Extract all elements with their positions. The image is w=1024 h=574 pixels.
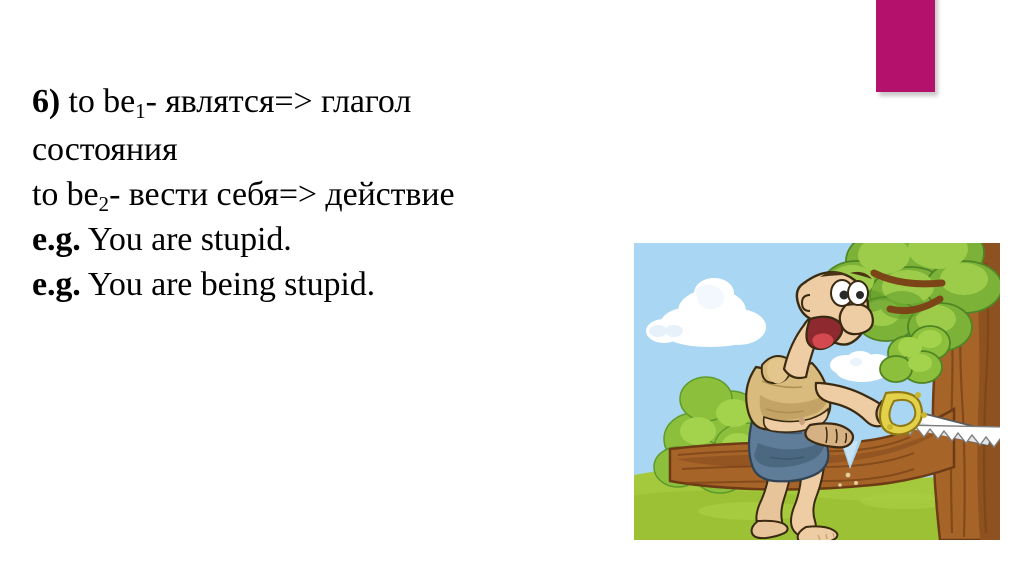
text-line-2: состояния bbox=[32, 128, 692, 173]
man-sawing-own-branch-cartoon bbox=[634, 243, 1000, 540]
list-marker: 6) bbox=[32, 83, 60, 120]
text-line-4: e.g. You are stupid. bbox=[32, 218, 692, 263]
example-sentence-1: You are stupid. bbox=[88, 221, 292, 258]
eg-label-2: e.g. bbox=[32, 266, 81, 303]
subscript-1: 1 bbox=[135, 99, 146, 123]
subscript-2: 2 bbox=[99, 191, 110, 215]
presentation-slide: 6) to be1- являтся=> глагол состояния to… bbox=[0, 0, 1024, 574]
navel bbox=[799, 417, 805, 425]
text-line-1: 6) to be1- являтся=> глагол bbox=[32, 80, 692, 126]
example-sentence-2: You are being stupid. bbox=[88, 266, 375, 303]
text-line-5: e.g. You are being stupid. bbox=[32, 263, 692, 308]
definition-1: - являтся=> глагол bbox=[146, 83, 412, 120]
eyes bbox=[831, 280, 868, 306]
magenta-accent-bar bbox=[876, 0, 935, 92]
term-to-be-2: to be bbox=[32, 176, 99, 213]
text-line-3: to be2- вести себя=> действие bbox=[32, 173, 692, 219]
definition-2: - вести себя=> действие bbox=[109, 176, 454, 213]
term-to-be-1: to be bbox=[69, 83, 136, 120]
slide-text-block: 6) to be1- являтся=> глагол состояния to… bbox=[32, 80, 692, 308]
eg-label-1: e.g. bbox=[32, 221, 81, 258]
